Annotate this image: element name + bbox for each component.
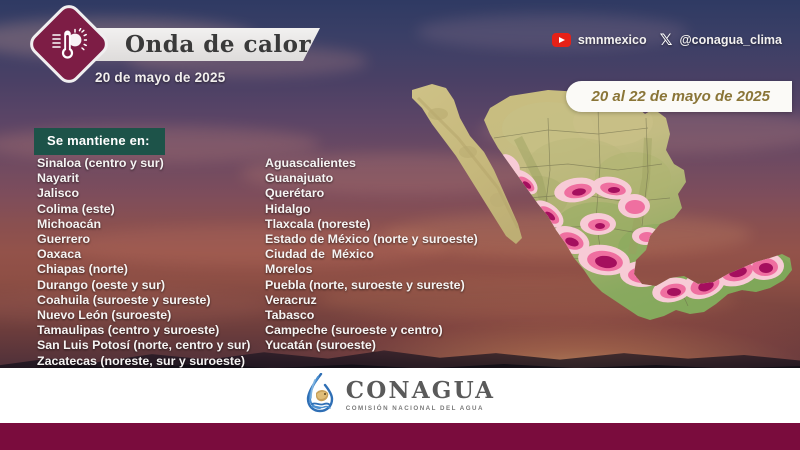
conagua-water-eagle-logo — [305, 373, 335, 418]
state-list-item: Sinaloa (centro y sur) — [37, 156, 250, 171]
state-list-item: San Luis Potosí (norte, centro y sur) — [37, 338, 250, 353]
state-list-item: Yucatán (suroeste) — [265, 338, 478, 353]
state-list-item: Guanajuato — [265, 171, 478, 186]
state-list-item: Nayarit — [37, 171, 250, 186]
social-link-x[interactable]: 𝕏 @conagua_clima — [660, 32, 782, 48]
state-list-item: Durango (oeste y sur) — [37, 278, 250, 293]
state-list-item: Estado de México (norte y suroeste) — [265, 232, 478, 247]
state-list-item: Zacatecas (noreste, sur y suroeste) — [37, 354, 250, 369]
youtube-icon — [552, 33, 571, 47]
state-list-item: Nuevo León (suroeste) — [37, 308, 250, 323]
state-list-item: Michoacán — [37, 217, 250, 232]
state-list-item: Colima (este) — [37, 202, 250, 217]
social-link-youtube[interactable]: smnmexico — [552, 33, 647, 47]
conagua-logo-subtitle: COMISIÓN NACIONAL DEL AGUA — [346, 405, 495, 412]
state-list-item: Tabasco — [265, 308, 478, 323]
conagua-logo-title: CONAGUA — [346, 379, 495, 402]
page-title: Onda de calor — [125, 31, 311, 58]
conagua-logo: CONAGUA COMISIÓN NACIONAL DEL AGUA — [305, 373, 495, 418]
state-list-item: Puebla (norte, suroeste y sureste) — [265, 278, 478, 293]
footer-accent-bar — [0, 423, 800, 450]
x-twitter-icon: 𝕏 — [660, 32, 673, 48]
heat-wave-badge — [38, 13, 100, 75]
header-date: 20 de mayo de 2025 — [95, 70, 225, 85]
state-list-item: Veracruz — [265, 293, 478, 308]
state-list-item: Chiapas (norte) — [37, 262, 250, 277]
state-list-item: Jalisco — [37, 186, 250, 201]
footer: CONAGUA COMISIÓN NACIONAL DEL AGUA — [0, 368, 800, 423]
keeps-heading: Se mantiene en: — [47, 133, 150, 148]
keeps-heading-box: Se mantiene en: — [34, 128, 165, 155]
heat-wave-infographic: Onda de calor 20 de mayo de 2025 smnmexi… — [0, 0, 800, 450]
state-list-right: AguascalientesGuanajuatoQuerétaroHidalgo… — [265, 156, 478, 354]
state-list-item: Aguascalientes — [265, 156, 478, 171]
state-list-item: Querétaro — [265, 186, 478, 201]
state-list-item: Hidalgo — [265, 202, 478, 217]
state-list-item: Oaxaca — [37, 247, 250, 262]
state-list-item: Coahuila (suroeste y sureste) — [37, 293, 250, 308]
state-list-item: Guerrero — [37, 232, 250, 247]
state-list-left: Sinaloa (centro y sur)NayaritJaliscoColi… — [37, 156, 250, 369]
state-list-item: Ciudad de México — [265, 247, 478, 262]
conagua-wordmark: CONAGUA COMISIÓN NACIONAL DEL AGUA — [346, 379, 495, 412]
x-handle: @conagua_clima — [679, 33, 782, 47]
forecast-date-range-pill: 20 al 22 de mayo de 2025 — [566, 81, 792, 112]
state-list-item: Morelos — [265, 262, 478, 277]
state-list-item: Tlaxcala (noreste) — [265, 217, 478, 232]
title-ribbon: Onda de calor — [88, 28, 320, 61]
forecast-date-range: 20 al 22 de mayo de 2025 — [592, 88, 770, 105]
heat-thermometer-sun-icon — [38, 13, 100, 75]
state-list-item: Tamaulipas (centro y suroeste) — [37, 323, 250, 338]
state-list-item: Campeche (suroeste y centro) — [265, 323, 478, 338]
social-links: smnmexico 𝕏 @conagua_clima — [552, 32, 782, 48]
youtube-handle: smnmexico — [578, 33, 647, 47]
